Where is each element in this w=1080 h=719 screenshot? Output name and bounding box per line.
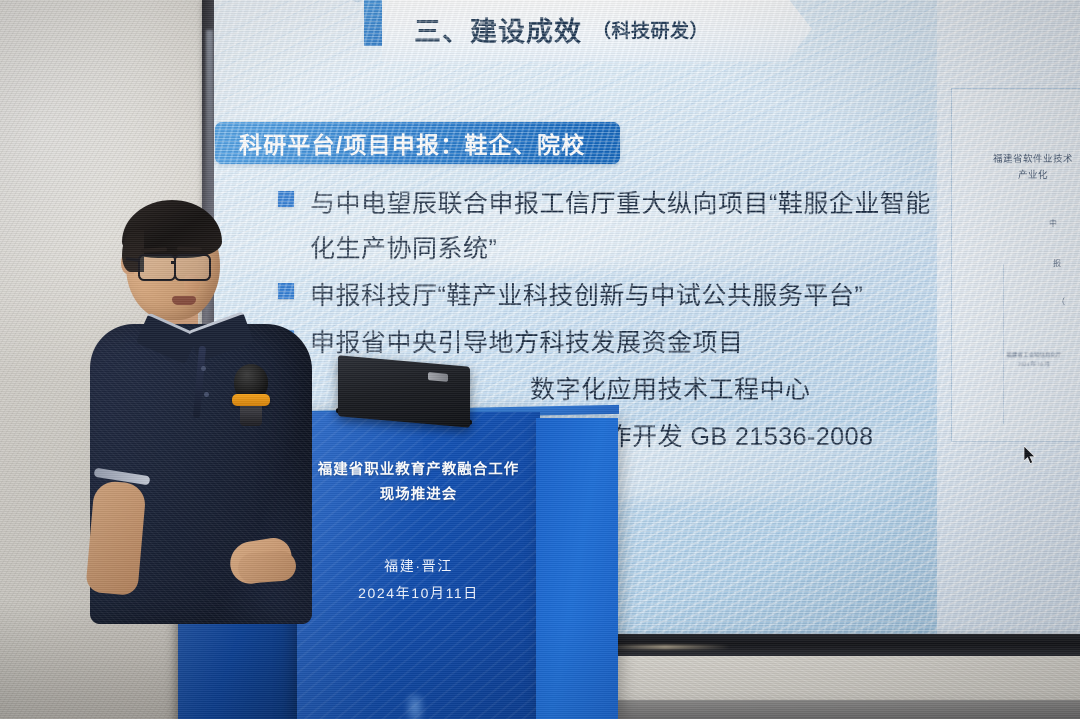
microphone-band <box>232 394 270 406</box>
podium-meta: 福建·晋江 2024年10月11日 <box>305 553 532 607</box>
podium-right-panel <box>536 418 618 719</box>
podium-front-panel: 福建省职业教育产教融合工作 现场推进会 福建·晋江 2024年10月11日 <box>297 412 540 719</box>
glasses-left-lens <box>138 254 176 281</box>
podium-date: 2024年10月11日 <box>305 580 532 607</box>
shirt-button <box>204 392 209 397</box>
podium-logo-glow <box>404 694 426 719</box>
mouse-pointer-icon <box>1024 446 1038 466</box>
right-hand-fingers <box>237 550 297 584</box>
eyebrow-right <box>177 247 202 252</box>
glasses-right-lens <box>174 254 211 281</box>
podium-location: 福建·晋江 <box>305 553 532 580</box>
presentation-photo-scene: 三、建设成效 （科技研发） 科研平台/项目申报：鞋企、院校 与中电望辰联合申报工… <box>0 0 1080 719</box>
left-arm <box>85 480 147 596</box>
shirt-button <box>201 366 206 371</box>
presenter <box>88 196 318 719</box>
podium-title-line1: 福建省职业教育产教融合工作 <box>305 458 532 483</box>
laptop-logo-badge <box>428 372 448 382</box>
laptop-lid <box>338 355 470 428</box>
podium-title-line2: 现场推进会 <box>305 483 532 508</box>
glasses-bridge <box>171 261 176 264</box>
bezel-glint <box>600 645 730 649</box>
podium-front-gloss <box>297 412 457 719</box>
mouth <box>172 296 196 305</box>
podium-title: 福建省职业教育产教融合工作 现场推进会 <box>305 458 532 508</box>
